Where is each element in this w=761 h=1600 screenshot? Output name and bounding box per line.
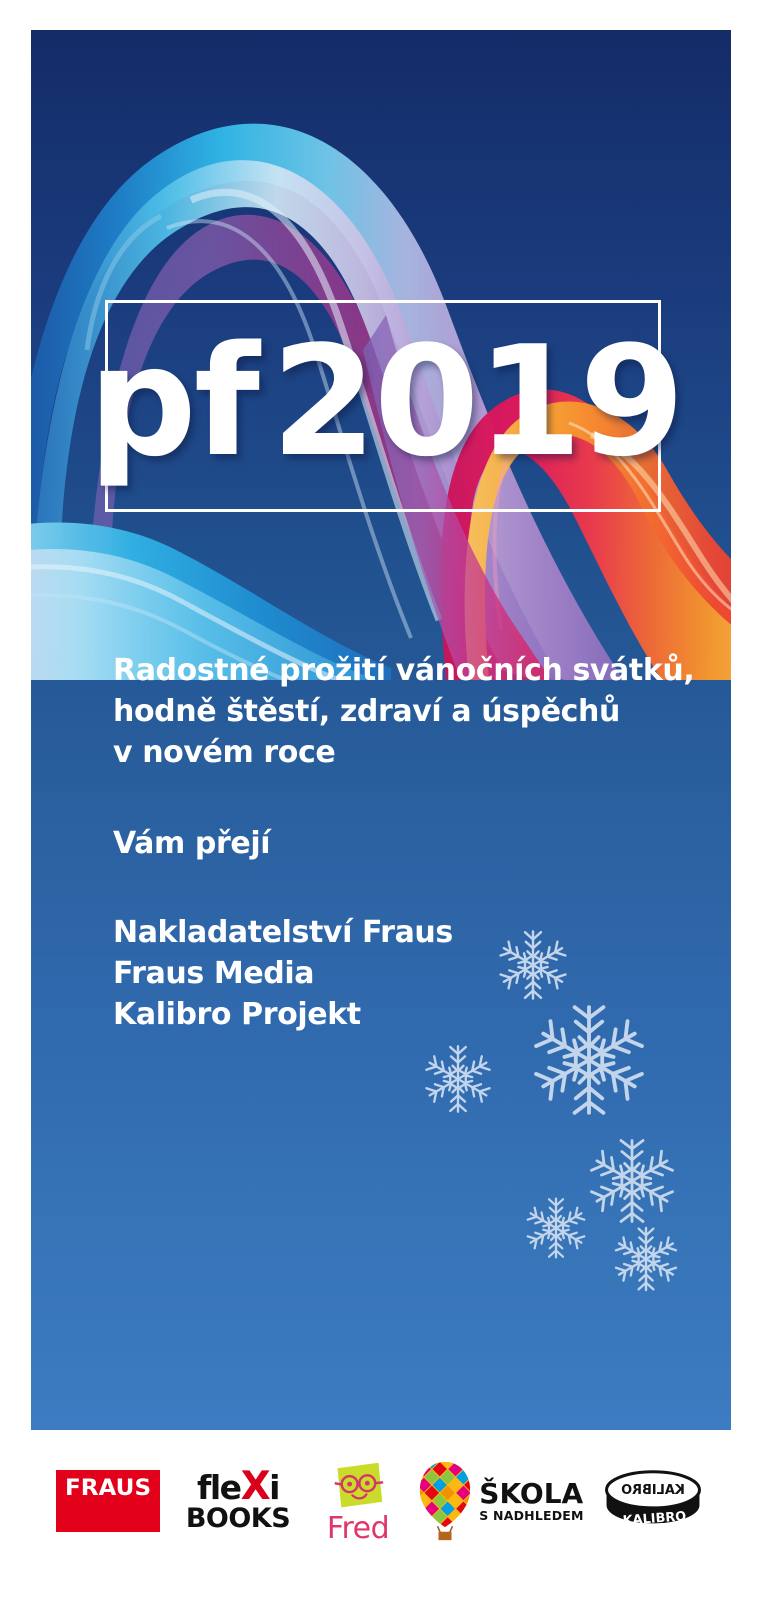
snowflake-icon [419, 1040, 497, 1118]
flexibooks-i: i [269, 1468, 279, 1507]
fraus-logo[interactable]: FRAUS [43, 1453, 173, 1549]
flexibooks-logo-bottom: BOOKS [186, 1505, 290, 1532]
headline-wrap: pf2019 [105, 298, 665, 514]
fraus-logo-label: FRAUS [65, 1476, 151, 1501]
fred-logo-label: Fred [327, 1515, 389, 1543]
kalibro-label: KALIBRO [622, 1509, 687, 1528]
headline-year: 2019 [271, 313, 682, 490]
greeting-line-3: v novém roce [113, 732, 673, 773]
skola-title: ŠKOLA [479, 1480, 583, 1508]
skola-text-block: ŠKOLA S NADHLEDEM [479, 1480, 583, 1523]
greeting-line-1: Radostné prožití vánočních svátků, [113, 650, 673, 691]
signature-line-3: Kalibro Projekt [113, 994, 673, 1035]
spacer [113, 773, 673, 823]
spacer [113, 864, 673, 912]
signature-paragraph: Nakladatelství Fraus Fraus Media Kalibro… [113, 912, 673, 1035]
card-background: pf2019 Radostné prožití vánočních svátků… [31, 30, 731, 1430]
headline-prefix: pf [88, 313, 257, 490]
flexibooks-logo[interactable]: fleXi BOOKS [173, 1453, 303, 1549]
kalibro-logo[interactable]: KALIBRO KALIBRO [588, 1453, 718, 1549]
fred-logo[interactable]: Fred [303, 1453, 413, 1549]
kalibro-label-mirrored: KALIBRO [621, 1483, 685, 1498]
kalibro-ring-icon: KALIBRO KALIBRO [601, 1464, 705, 1538]
hot-air-balloon-icon [417, 1460, 473, 1542]
greeting-message: Radostné prožití vánočních svátků, hodně… [113, 650, 673, 1035]
fred-face-icon [330, 1459, 386, 1513]
signature-line-1: Nakladatelství Fraus [113, 912, 673, 953]
snowflake-icon [521, 1193, 591, 1263]
greeting-line-2: hodně štěstí, zdraví a úspěchů [113, 691, 673, 732]
signature-line-2: Fraus Media [113, 953, 673, 994]
footer-logo-strip: FRAUS fleXi BOOKS [0, 1430, 761, 1600]
greeting-paragraph: Radostné prožití vánočních svátků, hodně… [113, 650, 673, 773]
skola-subtitle: S NADHLEDEM [479, 1510, 583, 1523]
flexibooks-logo-top: fleXi [197, 1471, 279, 1504]
logo-row: FRAUS fleXi BOOKS [0, 1446, 761, 1556]
skola-s-nadhledem-logo[interactable]: ŠKOLA S NADHLEDEM [413, 1453, 588, 1549]
snowflake-icon [609, 1222, 683, 1296]
greeting-closing: Vám přejí [113, 823, 673, 864]
snowflake-icon [586, 1135, 678, 1227]
flexibooks-x: X [241, 1464, 270, 1509]
fraus-logo-box: FRAUS [56, 1470, 160, 1532]
page-title: pf2019 [88, 326, 682, 478]
closing-paragraph: Vám přejí [113, 823, 673, 864]
greeting-card-page: pf2019 Radostné prožití vánočních svátků… [0, 0, 761, 1600]
flexibooks-fle: fle [197, 1468, 241, 1507]
